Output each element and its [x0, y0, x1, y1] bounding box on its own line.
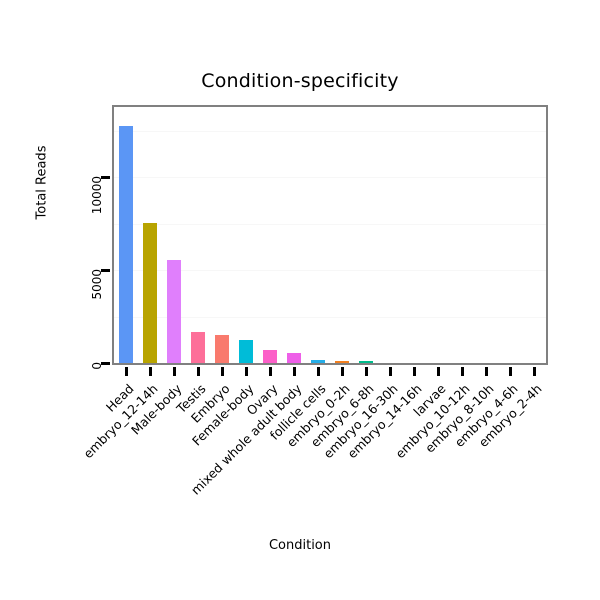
bar[interactable] — [167, 260, 181, 363]
x-tick-mark — [245, 367, 248, 376]
chart-title: Condition-specificity — [0, 70, 600, 92]
x-tick-mark — [341, 367, 344, 376]
bar[interactable] — [215, 335, 229, 363]
x-tick-mark — [365, 367, 368, 376]
condition-specificity-chart: Condition-specificity Total Reads 050001… — [0, 0, 600, 600]
y-axis-title: Total Reads — [35, 123, 50, 243]
y-tick-label: 10000 — [90, 176, 104, 296]
x-tick-mark — [221, 367, 224, 376]
plot-area — [114, 107, 546, 363]
bar[interactable] — [311, 360, 325, 363]
x-tick-mark — [293, 367, 296, 376]
gridline-minor — [114, 224, 546, 225]
x-tick-mark — [197, 367, 200, 376]
x-tick-mark — [413, 367, 416, 376]
x-tick-mark — [173, 367, 176, 376]
bar[interactable] — [335, 361, 349, 363]
bar[interactable] — [359, 361, 373, 363]
x-tick-mark — [485, 367, 488, 376]
x-tick-mark — [269, 367, 272, 376]
x-tick-mark — [533, 367, 536, 376]
x-tick-mark — [461, 367, 464, 376]
bar[interactable] — [191, 332, 205, 363]
x-tick-mark — [389, 367, 392, 376]
bar[interactable] — [239, 340, 253, 363]
gridline-minor — [114, 131, 546, 132]
gridline — [114, 177, 546, 178]
x-tick-mark — [509, 367, 512, 376]
bar[interactable] — [143, 223, 157, 363]
plot-panel — [112, 105, 548, 365]
x-tick-mark — [149, 367, 152, 376]
x-axis-title: Condition — [0, 538, 600, 553]
x-tick-mark — [317, 367, 320, 376]
bar[interactable] — [119, 126, 133, 363]
x-tick-mark — [437, 367, 440, 376]
bar[interactable] — [263, 350, 277, 363]
x-tick-mark — [125, 367, 128, 376]
bar[interactable] — [287, 353, 301, 363]
